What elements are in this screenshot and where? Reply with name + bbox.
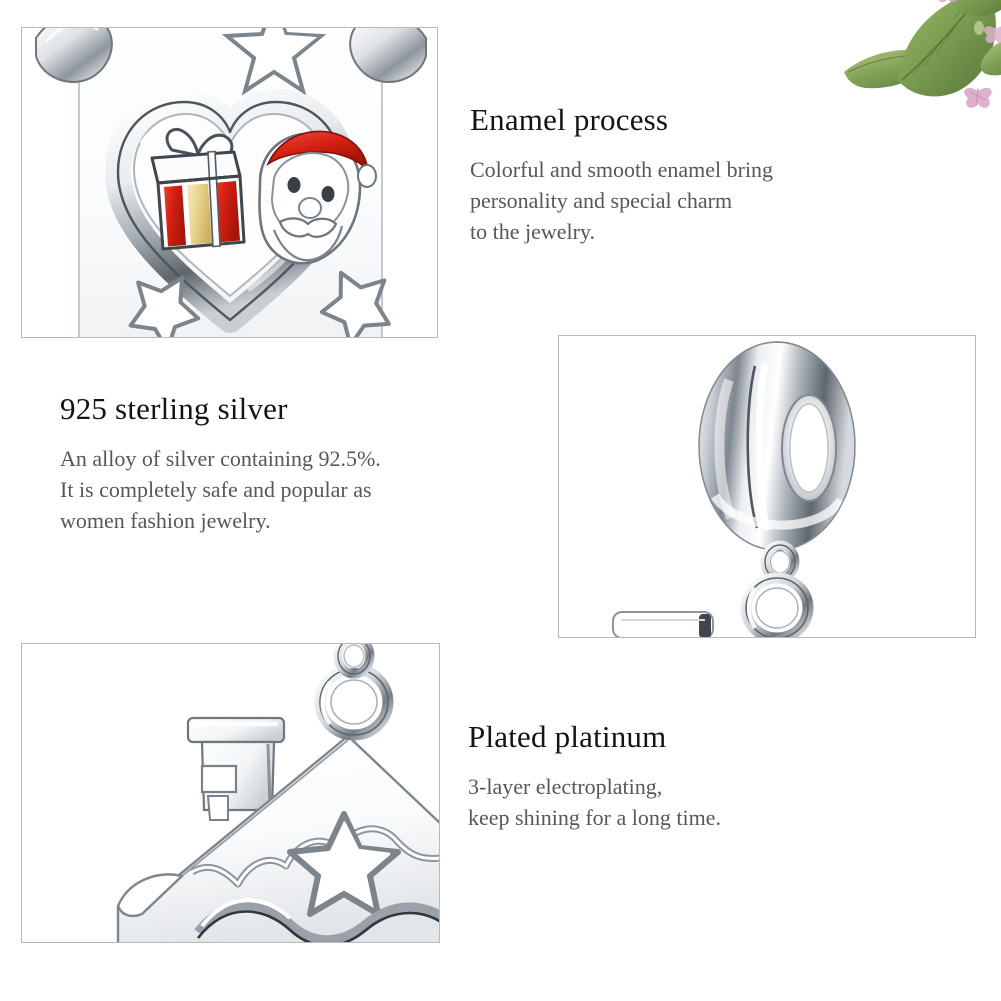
- silver-donut-bead: [699, 342, 855, 550]
- santa-eye-left: [288, 177, 301, 193]
- botanical-svg: [836, 0, 1001, 144]
- feature-title-enamel: Enamel process: [470, 102, 773, 138]
- photo-canvas-charm-roof: [22, 644, 439, 942]
- leaf-right: [981, 38, 1001, 75]
- product-photo-bead-bail: [558, 335, 976, 638]
- product-photo-charm-roof: [21, 643, 440, 943]
- feature-block-silver: 925 sterling silver An alloy of silver c…: [60, 391, 381, 536]
- flower-blossoms: [937, 0, 1001, 108]
- feature-title-silver: 925 sterling silver: [60, 391, 381, 427]
- infographic-stage: Enamel process Colorful and smooth ename…: [0, 0, 1001, 1001]
- feature-body-silver: An alloy of silver containing 92.5%. It …: [60, 443, 381, 536]
- product-photo-charm-front: [21, 27, 438, 338]
- leaf-main: [898, 0, 996, 96]
- leaf-and-flower-illustration: [836, 0, 1001, 144]
- photo-canvas-bead-bail: [559, 336, 975, 637]
- leaf-upper-right: [950, 0, 1001, 16]
- feature-title-platinum: Plated platinum: [468, 719, 721, 755]
- bead-bail-illustration: [559, 336, 975, 637]
- feature-block-platinum: Plated platinum 3-layer electroplating, …: [468, 719, 721, 833]
- charm-roof-illustration: [22, 644, 439, 942]
- santa-eye-right: [322, 186, 335, 202]
- photo-canvas-charm-front: [22, 28, 437, 337]
- leaf-lower: [844, 50, 940, 88]
- feature-body-enamel: Colorful and smooth enamel bring persona…: [470, 154, 773, 247]
- feature-body-platinum: 3-layer electroplating, keep shining for…: [468, 771, 721, 833]
- charm-front-illustration: [22, 28, 437, 337]
- feature-block-enamel: Enamel process Colorful and smooth ename…: [470, 102, 773, 247]
- silver-bar: [613, 612, 713, 637]
